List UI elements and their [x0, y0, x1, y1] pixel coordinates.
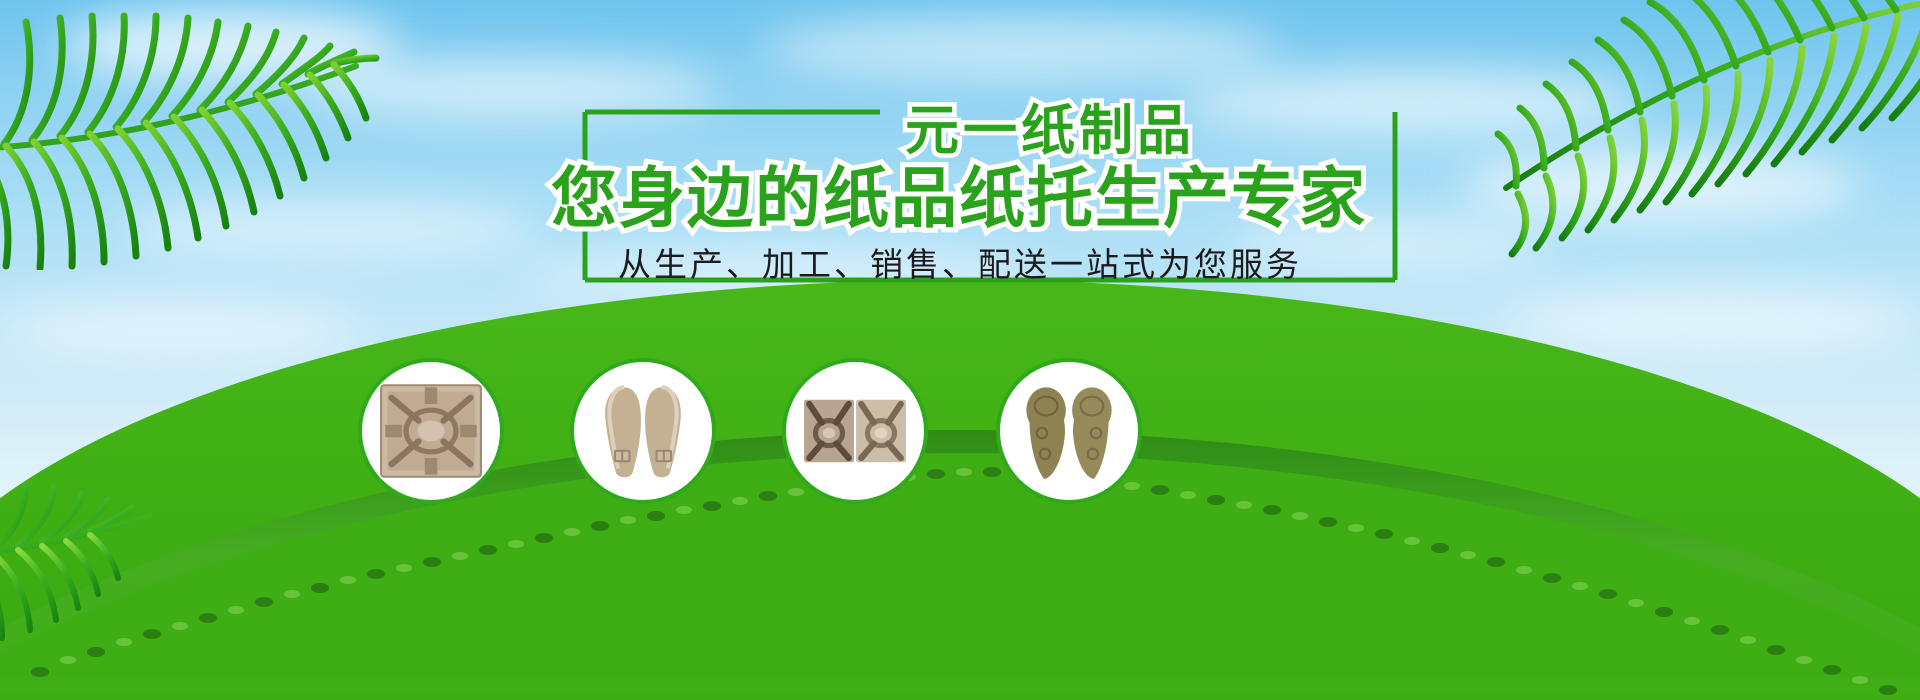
product-circle-4[interactable] — [996, 358, 1142, 504]
molded-pulp-shoe-insert-pair-icon — [591, 379, 695, 483]
molded-pulp-shoe-tree-pair-icon — [1017, 379, 1121, 483]
promotional-banner: 元一纸制品 您身边的纸品纸托生产专家 从生产、加工、销售、配送一站式为您服务 — [0, 0, 1920, 700]
product-circle-3[interactable] — [782, 358, 928, 504]
product-circle-2[interactable] — [570, 358, 716, 504]
molded-pulp-square-tray-icon — [379, 379, 483, 483]
product-circle-1[interactable] — [358, 358, 504, 504]
molded-pulp-double-tray-icon — [803, 379, 907, 483]
product-circle-row — [0, 0, 1920, 700]
